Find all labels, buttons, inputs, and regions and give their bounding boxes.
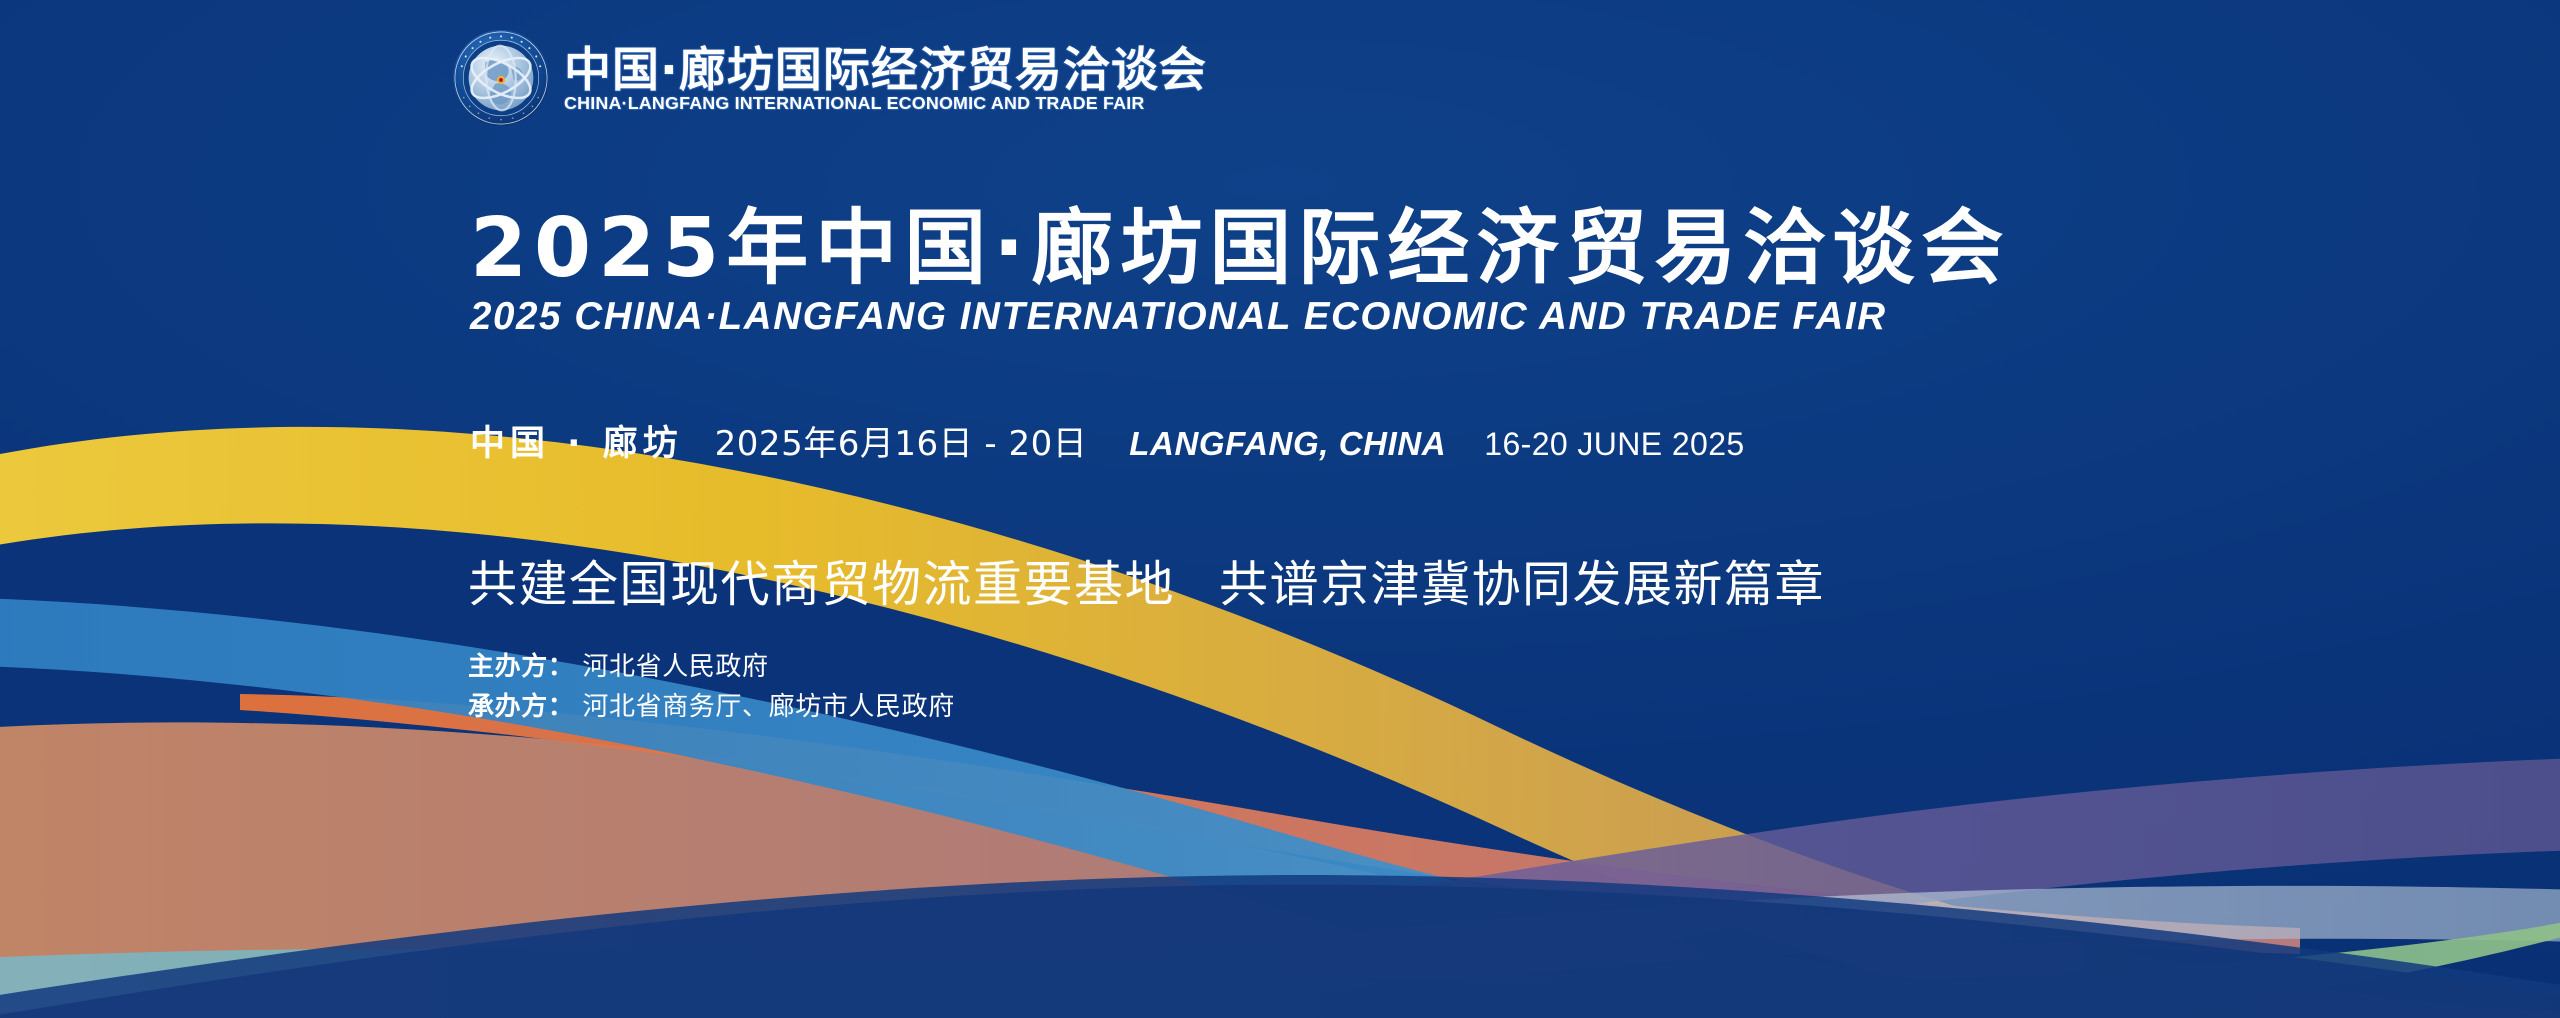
fair-logo-lockup: 中国·廊坊国际经济贸易洽谈会 CHINA·LANGFANG INTERNATIO…: [452, 18, 1207, 138]
slogan-part-two: 共谱京津冀协同发展新篇章: [1219, 556, 1825, 613]
logo-wordmark-en: CHINA·LANGFANG INTERNATIONAL ECONOMIC AN…: [564, 95, 1220, 113]
organizer-value: 河北省人民政府: [582, 648, 768, 688]
event-title-en: 2025 CHINA·LANGFANG INTERNATIONAL ECONOM…: [470, 297, 2170, 337]
organizer-label: 承办方：: [468, 688, 574, 728]
organizer-value: 河北省商务厅、廊坊市人民政府: [582, 688, 954, 728]
organizer-block: 主办方： 河北省人民政府 承办方： 河北省商务厅、廊坊市人民政府: [468, 648, 955, 727]
banner-background: [0, 0, 2560, 1018]
headline-block: 2025年中国·廊坊国际经济贸易洽谈会 2025 CHINA·LANGFANG …: [470, 206, 2170, 337]
event-title-cn: 2025年中国·廊坊国际经济贸易洽谈会: [470, 206, 2170, 293]
event-date-cn: 2025年6月16日 - 20日: [715, 416, 1088, 465]
logo-wordmark-cn: 中国·廊坊国际经济贸易洽谈会: [564, 47, 1207, 94]
event-banner: 中国·廊坊国际经济贸易洽谈会 CHINA·LANGFANG INTERNATIO…: [0, 0, 2560, 1018]
organizer-row: 承办方： 河北省商务厅、廊坊市人民政府: [468, 688, 955, 728]
event-place-en: LANGFANG, CHINA: [1129, 425, 1446, 463]
event-date-en: 16-20 JUNE 2025: [1484, 426, 1744, 463]
logo-wordmark: 中国·廊坊国际经济贸易洽谈会 CHINA·LANGFANG INTERNATIO…: [564, 43, 1207, 113]
event-slogan: 共建全国现代商贸物流重要基地共谱京津冀协同发展新篇章: [468, 558, 1825, 612]
globe-emblem-icon: [452, 29, 550, 127]
event-meta-strip: 中国 · 廊坊 2025年6月16日 - 20日 LANGFANG, CHINA…: [470, 415, 1745, 466]
organizer-label: 主办方：: [468, 648, 574, 688]
slogan-part-one: 共建全国现代商贸物流重要基地: [468, 556, 1175, 613]
event-place-cn: 中国 · 廊坊: [470, 415, 683, 466]
organizer-row: 主办方： 河北省人民政府: [468, 648, 955, 688]
